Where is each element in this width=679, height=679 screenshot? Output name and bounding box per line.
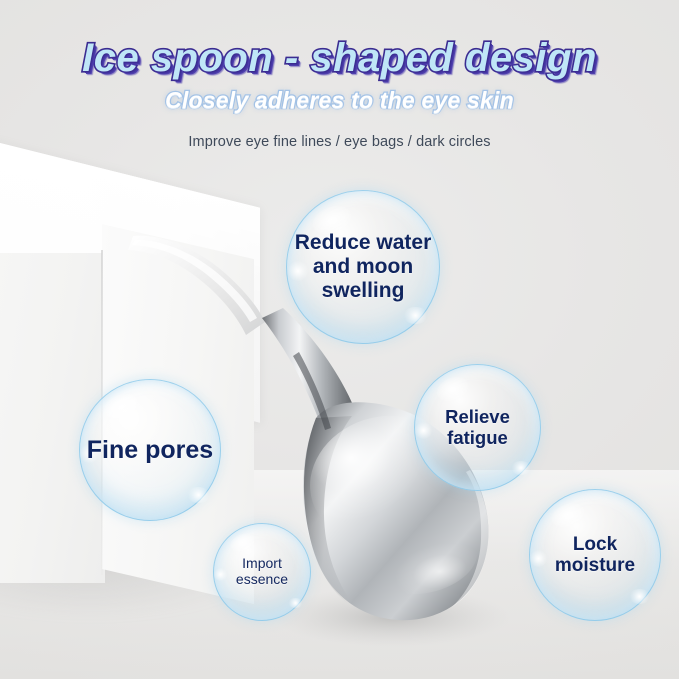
feature-bubble-label: Lock moisture bbox=[529, 534, 661, 577]
bubble-glint-bottom-right bbox=[511, 461, 531, 475]
product-marketing-image: Ice spoon - shaped design Closely adhere… bbox=[0, 0, 679, 679]
bubble-glint-bottom-right bbox=[403, 307, 428, 324]
feature-bubble-label: Import essence bbox=[213, 556, 311, 588]
feature-bubble-fine-pores: Fine pores bbox=[79, 379, 221, 521]
spoon-handle bbox=[128, 236, 265, 335]
feature-bubble-import-essence: Import essence bbox=[213, 523, 311, 621]
feature-bubble-label: Reduce water and moon swelling bbox=[286, 231, 440, 302]
feature-bubble-lock-moisture: Lock moisture bbox=[529, 489, 661, 621]
feature-bubble-relieve-fatigue: Relieve fatigue bbox=[414, 364, 541, 491]
feature-bubble-label: Relieve fatigue bbox=[414, 407, 541, 449]
bubble-glint-bottom-right bbox=[187, 487, 210, 503]
feature-bubble-label: Fine pores bbox=[81, 436, 219, 464]
feature-bubble-reduce-swelling: Reduce water and moon swelling bbox=[286, 190, 440, 344]
